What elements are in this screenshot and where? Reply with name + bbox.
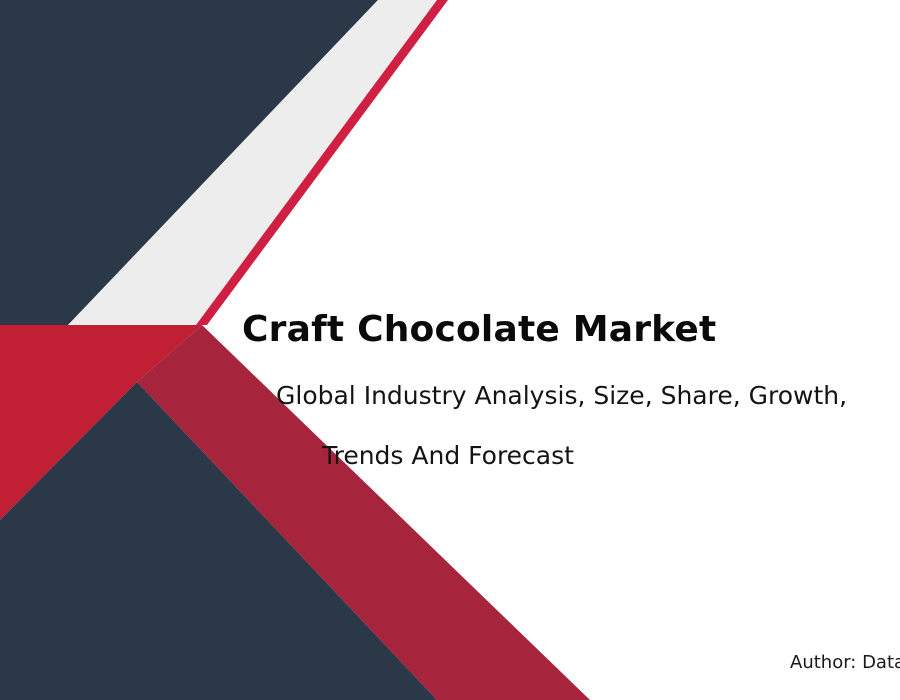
cover-slide: Craft Chocolate Market Global Industry A… xyxy=(0,0,900,700)
subtitle-line-2: Trends And Forecast xyxy=(322,426,900,486)
page-title: Craft Chocolate Market xyxy=(242,308,882,352)
author-label: Author: Data xyxy=(790,652,900,673)
subtitle-line-1: Global Industry Analysis, Size, Share, G… xyxy=(276,366,900,426)
page-subtitle: Global Industry Analysis, Size, Share, G… xyxy=(276,366,900,486)
text-content: Craft Chocolate Market Global Industry A… xyxy=(0,0,900,700)
